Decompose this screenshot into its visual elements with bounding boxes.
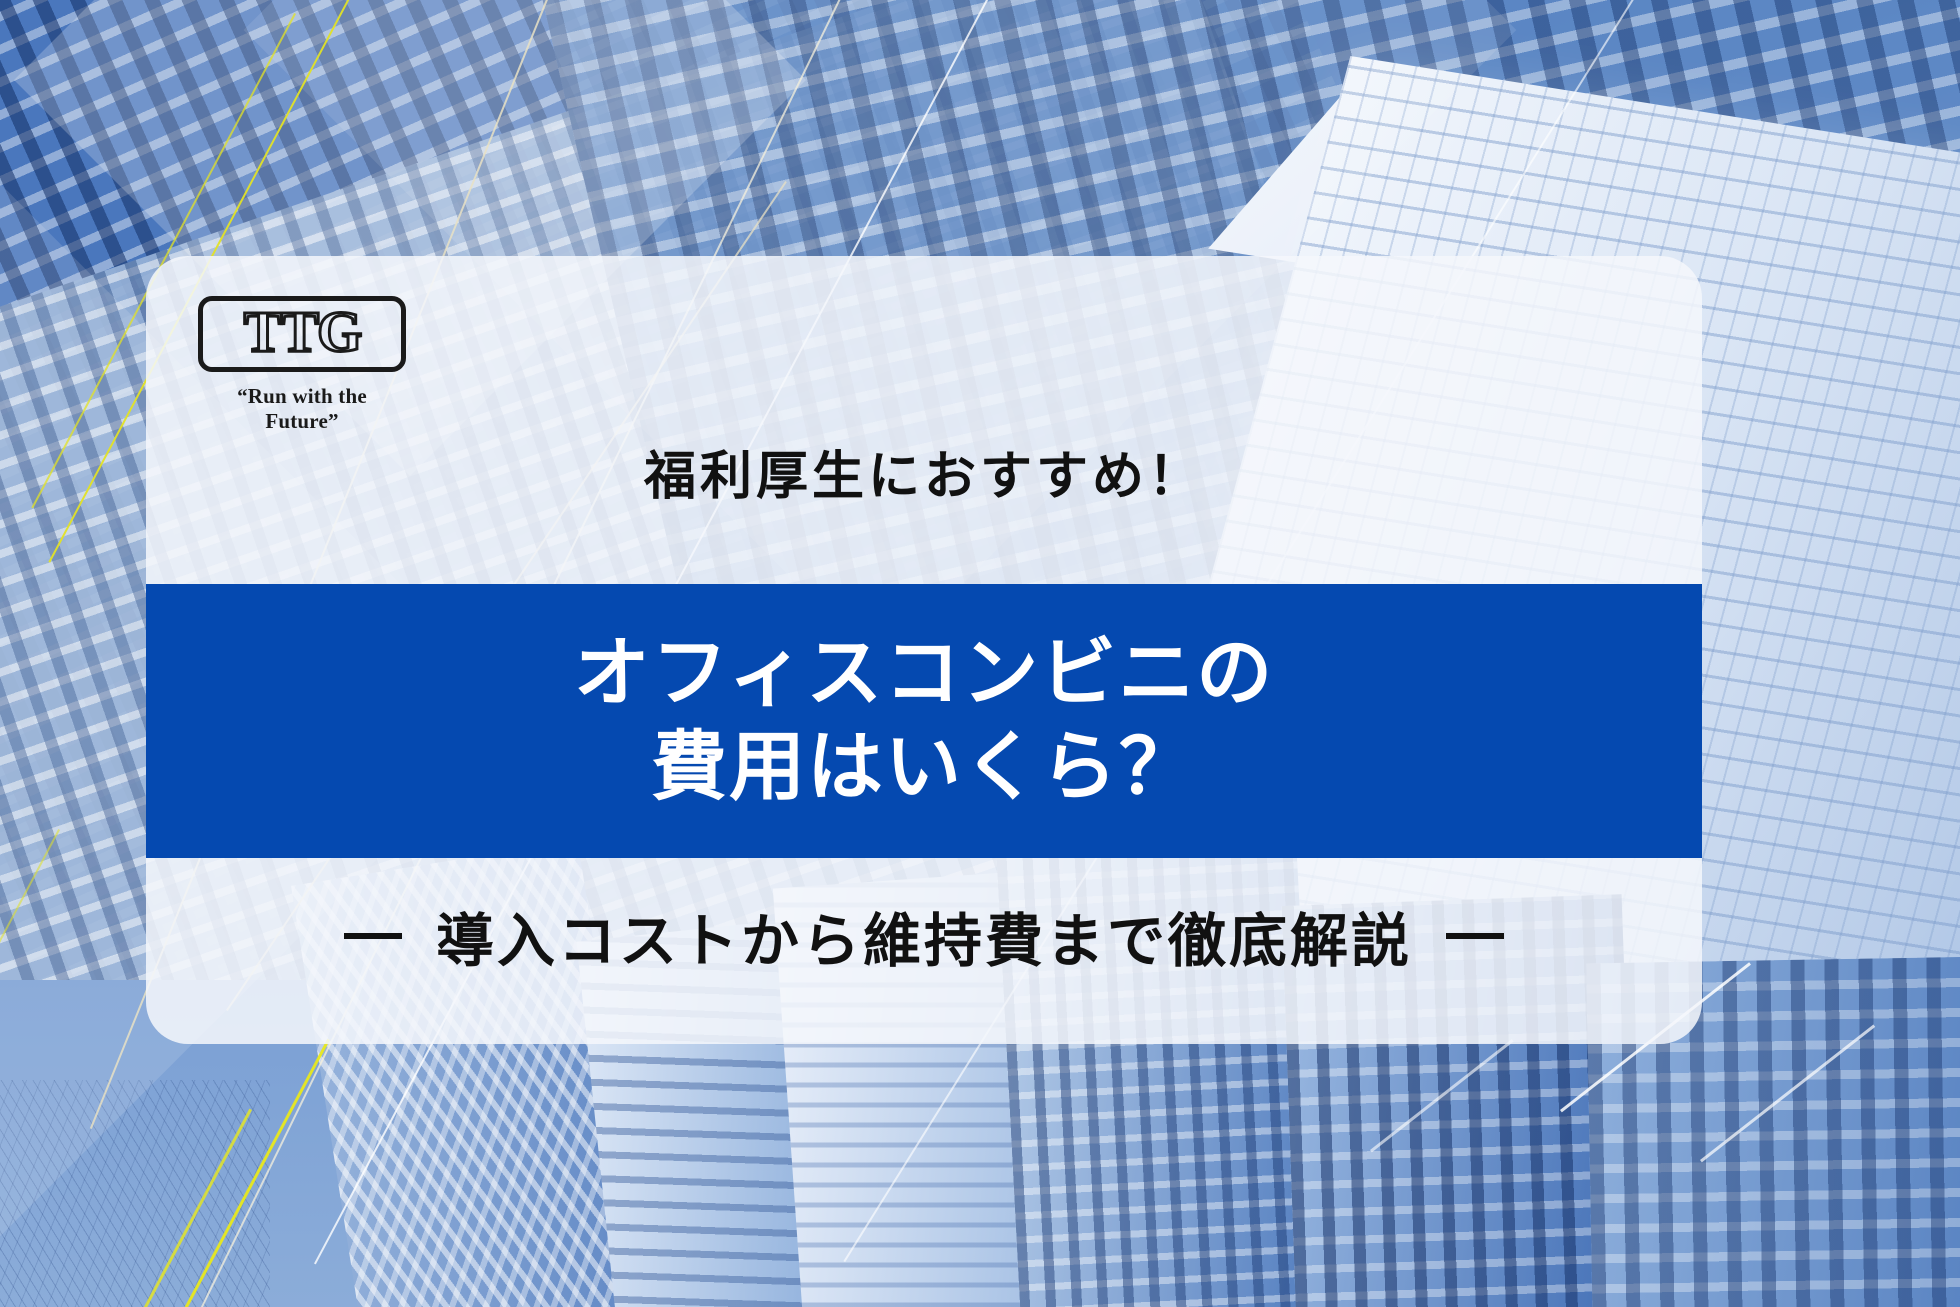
brand-logo: TTG “Run with the Future” — [198, 296, 448, 434]
subtitle-text: 導入コストから維持費まで徹底解説 — [436, 894, 1412, 978]
eyebrow-text: 福利厚生におすすめ！ — [146, 434, 1702, 509]
headline-line-1: オフィスコンビニの — [574, 629, 1274, 719]
logo-letters: TTG — [244, 304, 361, 363]
logo-tagline: “Run with the Future” — [198, 384, 406, 434]
poster-stage: TTG “Run with the Future” 福利厚生におすすめ！ オフィ… — [0, 0, 1960, 1307]
subtitle-row: 導入コストから維持費まで徹底解説 — [146, 894, 1702, 978]
headline-line-2: 費用はいくら？ — [651, 723, 1197, 813]
content-card: TTG “Run with the Future” 福利厚生におすすめ！ オフィ… — [146, 256, 1702, 1044]
dash-right-icon — [1446, 933, 1504, 939]
dash-left-icon — [344, 933, 402, 939]
logo-mark-frame: TTG — [198, 296, 406, 372]
headline-banner: オフィスコンビニの 費用はいくら？ — [146, 584, 1702, 858]
